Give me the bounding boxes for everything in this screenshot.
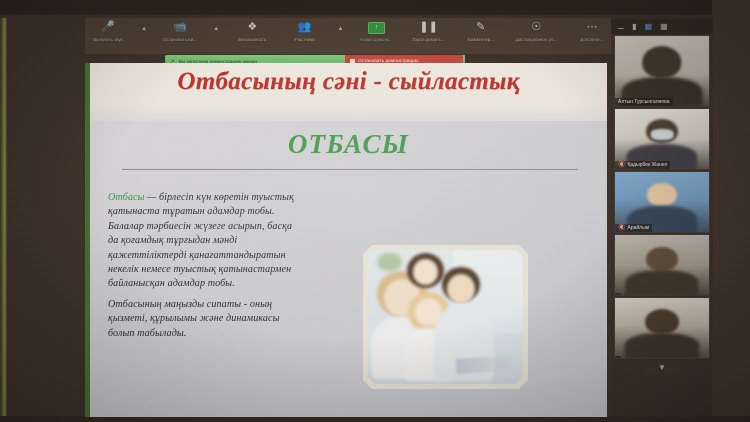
microphone-muted-icon: 🔇 [618,162,625,168]
participant-name: Арайлым [627,225,649,231]
participant-face-mask [651,129,674,140]
toolbar-pause-share-label: Пауза демонс... [413,37,445,42]
participant-name: Алтын Турсынгалиева [618,99,670,105]
toolbar-more-label: Дополнит... [581,37,604,42]
toolbar-annotate-label: Комментир... [467,37,493,42]
toolbar-new-share-button[interactable]: ↑ Новая демонс... [358,20,396,42]
microphone-icon: 🎤 [101,20,115,35]
slide-title: Отбасының сәні - сыйластық [90,67,607,97]
toolbar-participants-label: Участники [294,37,315,42]
participant-name: Қадырбек Жанел [627,162,667,168]
participants-scroll-down-button[interactable]: ▼ [645,361,679,374]
toolbar-remote-control-button[interactable]: ☉ Дистанционное уп... [514,20,559,42]
chevron-down-icon: ▼ [658,363,666,372]
zoom-meeting-window: 🎤 Включить звук ▲ 📹 Остановить ви... ▲ ❖… [7,15,713,417]
pencil-icon: ✎ [476,20,485,35]
toolbar-security-label: Безопасность [238,37,266,42]
photo-plant [377,253,402,272]
participant-tile[interactable] [614,234,710,296]
participant-name-badge [615,293,621,295]
gallery-view-icon[interactable]: ▦ [645,23,653,31]
slide-keyword: Отбасы [108,192,145,203]
participant-name-badge: Алтын Турсынгалиева [615,98,673,106]
participant-video [615,235,709,295]
slide-paragraph-1-text: — бірлесіп күн көретін туыстық қатынаста… [108,192,294,289]
participant-shoulders [625,270,698,296]
participant-video [615,109,709,169]
toolbar-pause-share-button[interactable]: ❚❚ Пауза демонс... [410,20,448,42]
participants-video-strip: ⚊ ▮ ▦ ▦ Алтын Турсынгалиева [611,15,713,417]
chevron-up-icon-audio[interactable]: ▲ [141,26,147,32]
toolbar-security-button[interactable]: ❖ Безопасность [233,20,271,42]
shared-slide: Отбасының сәні - сыйластық ОТБАСЫ Отбасы… [85,63,607,417]
participant-tile[interactable] [614,297,710,359]
monitor-bezel-right [712,0,750,422]
participant-head [646,247,678,271]
participant-tile[interactable]: 🔇 Арайлым [614,171,710,233]
toolbar-more-button[interactable]: ⋯ Дополнит... [573,20,611,42]
participant-video [615,172,709,232]
minimize-icon[interactable]: ⚊ [617,23,624,31]
pause-icon: ❚❚ [419,20,437,35]
shield-icon: ❖ [247,20,257,35]
family-photo [368,250,523,384]
toolbar-annotate-button[interactable]: ✎ Комментир... [462,20,500,42]
toolbar-mute-button[interactable]: 🎤 Включить звук [89,20,127,42]
monitor-bezel-left [0,18,7,422]
participant-head [642,46,681,78]
photo-person-father-head [447,274,475,303]
participants-icon: 👥 [298,20,312,35]
slide-paragraph-2: Отбасының маңызды сипаты - оның қызметі,… [108,298,296,341]
toolbar-participants-button[interactable]: 👥 Участники [285,20,323,42]
toolbar-new-share-label: Новая демонс... [360,37,393,42]
microphone-muted-icon: 🔇 [618,225,625,231]
remote-control-icon: ☉ [531,20,541,35]
participant-head [647,183,677,206]
participant-shoulders [624,333,699,359]
slide-divider [122,169,578,170]
toolbar-stop-video-label: Остановить ви... [163,37,197,42]
toolbar-stop-video-button[interactable]: 📹 Остановить ви... [161,20,199,42]
family-photo-frame [363,245,528,389]
slide-body-text: Отбасы — бірлесіп күн көретін туыстық қа… [108,191,296,347]
participant-video [615,36,709,106]
participant-video [615,298,709,358]
participant-tile[interactable]: 🔇 Қадырбек Жанел [614,108,710,170]
speaker-view-icon[interactable]: ▮ [632,23,636,31]
photographed-screen: 🎤 Включить звук ▲ 📹 Остановить ви... ▲ ❖… [0,0,750,422]
toolbar-remote-control-label: Дистанционное уп... [516,37,557,42]
new-share-glyph: ↑ [368,22,385,34]
toolbar-mute-label: Включить звук [93,37,122,42]
participant-name-badge: 🔇 Қадырбек Жанел [615,161,670,169]
participant-head [645,309,679,334]
zoom-toolbar: 🎤 Включить звук ▲ 📹 Остановить ви... ▲ ❖… [85,18,615,54]
video-layout-toolbar: ⚊ ▮ ▦ ▦ [611,19,713,34]
participant-tile[interactable]: Алтын Турсынгалиева [614,35,710,107]
video-camera-icon: 📹 [173,20,187,35]
more-dots-icon: ⋯ [586,20,597,35]
chevron-up-icon-video[interactable]: ▲ [213,26,219,32]
grid-icon[interactable]: ▦ [660,23,668,31]
photo-person-boy-head [413,259,438,284]
slide-heading: ОТБАСЫ [90,128,607,160]
new-share-icon: ↑ [368,20,385,35]
chevron-up-icon-participants[interactable]: ▲ [337,26,343,32]
participant-name-badge [615,356,621,358]
participant-name-badge: 🔇 Арайлым [615,224,652,232]
monitor-bezel-top [0,0,750,15]
slide-paragraph-1: Отбасы — бірлесіп күн көретін туыстық қа… [108,191,296,292]
